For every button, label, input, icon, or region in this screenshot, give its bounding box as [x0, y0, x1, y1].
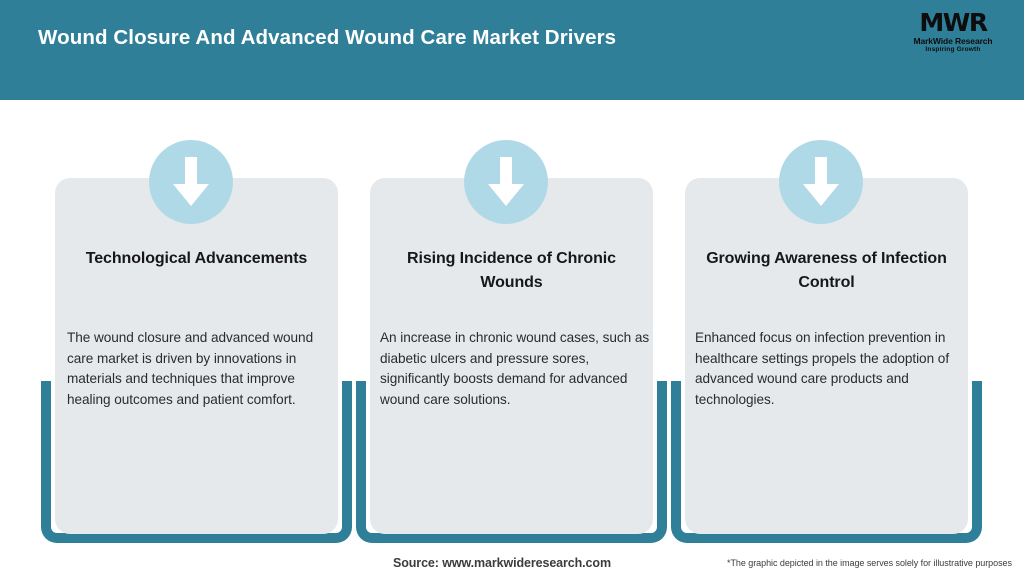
card-body-2: An increase in chronic wound cases, such… [380, 328, 652, 410]
arrow-down-icon [149, 140, 233, 224]
card-title-2: Rising Incidence of Chronic Wounds [376, 247, 647, 295]
driver-cards-container: Technological Advancements The wound clo… [0, 0, 1024, 576]
footer-disclaimer: *The graphic depicted in the image serve… [727, 558, 1012, 568]
driver-card-1: Technological Advancements The wound clo… [41, 0, 357, 576]
card-body-1: The wound closure and advanced wound car… [67, 328, 335, 410]
footer-source: Source: www.markwideresearch.com [393, 556, 611, 570]
card-title-1: Technological Advancements [61, 247, 332, 271]
arrow-down-icon [464, 140, 548, 224]
card-title-3: Growing Awareness of Infection Control [691, 247, 962, 295]
arrow-down-icon [779, 140, 863, 224]
driver-card-3: Growing Awareness of Infection Control E… [671, 0, 987, 576]
driver-card-2: Rising Incidence of Chronic Wounds An in… [356, 0, 672, 576]
card-body-3: Enhanced focus on infection prevention i… [695, 328, 975, 410]
